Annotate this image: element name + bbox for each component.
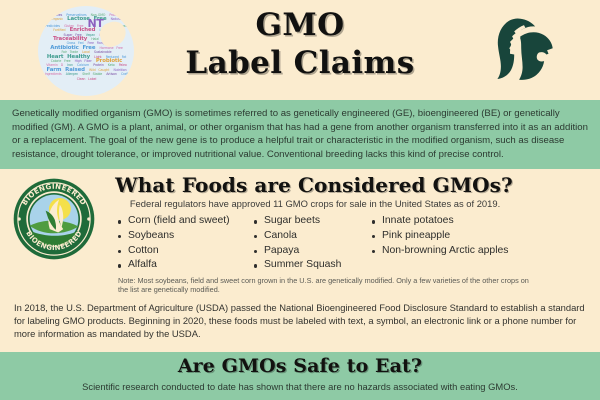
list-item: Sugar beets bbox=[254, 214, 358, 229]
crops-column-3: Innate potatoes Pink pineapple Non-brown… bbox=[358, 214, 558, 272]
safety-band: Are GMOs Safe to Eat? Scientific researc… bbox=[0, 352, 600, 400]
list-item: Non-browning Arctic apples bbox=[372, 244, 558, 259]
crops-note: Note: Most soybeans, field and sweet cor… bbox=[0, 276, 600, 295]
intro-paragraph: Genetically modified organism (GMO) is s… bbox=[12, 107, 590, 161]
list-item: Summer Squash bbox=[254, 258, 358, 273]
intro-band: Genetically modified organism (GMO) is s… bbox=[0, 100, 600, 169]
list-item: Soybeans bbox=[118, 229, 240, 244]
header: Additives Preservatives Non-GMO Processe… bbox=[0, 0, 600, 100]
list-item: Innate potatoes bbox=[372, 214, 558, 229]
list-item: Canola bbox=[254, 229, 358, 244]
usda-paragraph: In 2018, the U.S. Department of Agricult… bbox=[0, 301, 600, 340]
safety-heading: Are GMOs Safe to Eat? bbox=[0, 355, 600, 378]
foods-section: What Foods are Considered GMOs? Federal … bbox=[0, 169, 600, 339]
spartan-helmet-logo bbox=[488, 16, 560, 86]
crops-column-1: Corn (field and sweet) Soybeans Cotton A… bbox=[104, 214, 240, 272]
safety-subheading: Scientific research conducted to date ha… bbox=[0, 381, 600, 393]
list-item: Pink pineapple bbox=[372, 229, 558, 244]
list-item: Cotton bbox=[118, 244, 240, 259]
usda-bioengineered-seal: BIOENGINEERED BIOENGINEERED bbox=[12, 177, 96, 261]
gmo-word-cloud-logo: Additives Preservatives Non-GMO Processe… bbox=[38, 6, 134, 96]
word-cloud-circle: Additives Preservatives Non-GMO Processe… bbox=[38, 6, 134, 96]
word-cloud-words: Additives Preservatives Non-GMO Processe… bbox=[38, 6, 134, 96]
infographic-page: Additives Preservatives Non-GMO Processe… bbox=[0, 0, 600, 400]
list-item: Alfalfa bbox=[118, 258, 240, 273]
list-item: Corn (field and sweet) bbox=[118, 214, 240, 229]
crops-column-2: Sugar beets Canola Papaya Summer Squash bbox=[240, 214, 358, 272]
list-item: Papaya bbox=[254, 244, 358, 259]
